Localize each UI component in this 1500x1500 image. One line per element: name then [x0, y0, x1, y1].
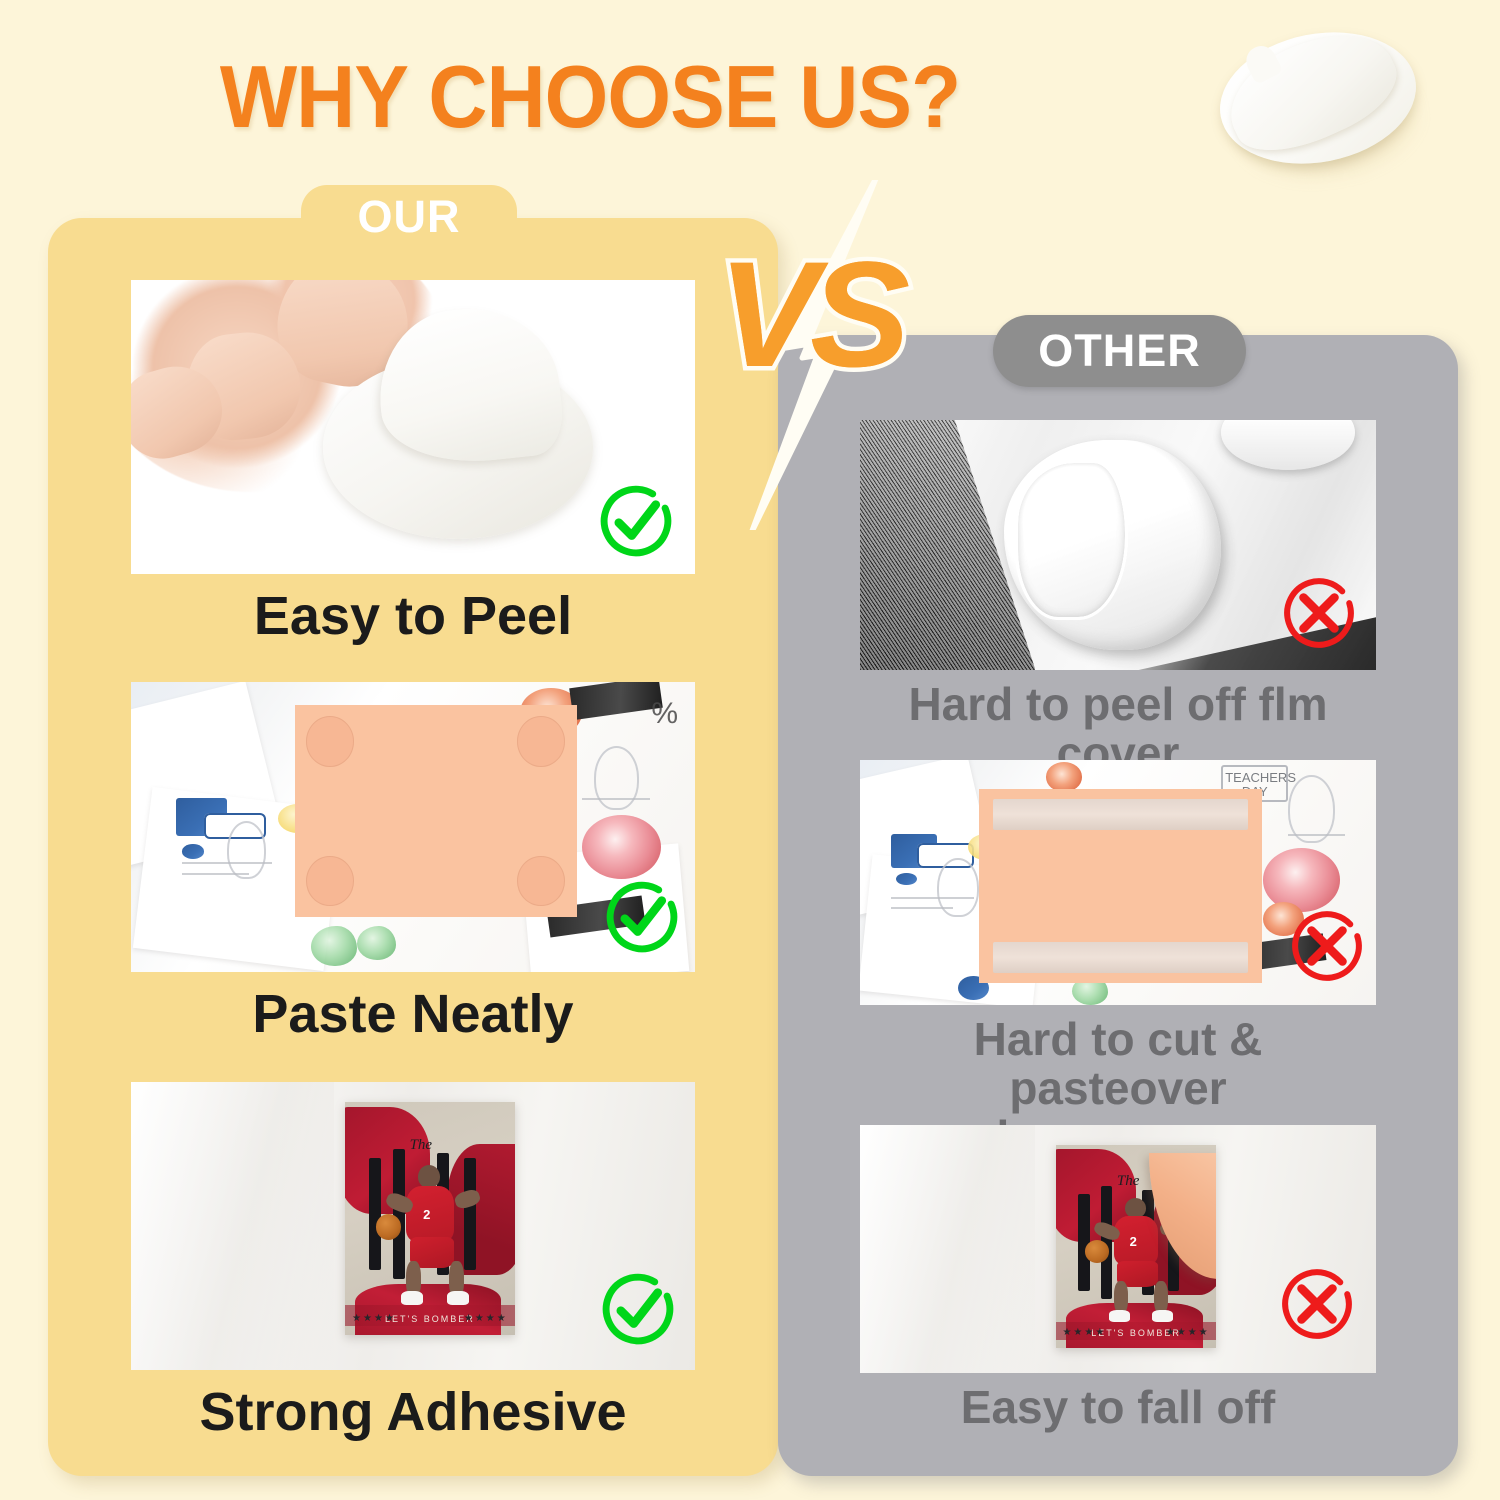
sketch-line — [182, 873, 250, 875]
sketch-line — [1288, 834, 1345, 836]
film-curled-lip — [1015, 460, 1129, 620]
other-card-easy-to-fall-off: The 2 LET'S BOMBER ★★★★ ★★★★ — [860, 1125, 1376, 1432]
player-leg — [1114, 1281, 1128, 1314]
percent-symbol: % — [651, 697, 678, 731]
blue-dot — [182, 844, 205, 859]
poster-stars: ★★★★ — [1062, 1327, 1106, 1338]
peach-sticker-overlay — [295, 705, 577, 917]
other-card-caption: Easy to fall off — [860, 1383, 1376, 1432]
other-tab-label: OTHER — [1038, 325, 1201, 377]
player-number: 2 — [1130, 1234, 1137, 1249]
red-x-circle-icon — [1276, 570, 1362, 656]
sketch-line — [582, 798, 650, 800]
poster-stars: ★★★★ — [1166, 1327, 1210, 1338]
basketball — [1085, 1240, 1109, 1262]
other-card-hard-to-cut: TEACHERS DAY Hard to cut & pasteover lar… — [860, 760, 1376, 1161]
versus-badge: VS VS — [690, 180, 930, 530]
orange-flower — [1046, 762, 1082, 791]
basketball-poster: The 2 LET'S BOMBER ★★★★ ★★★★ — [345, 1102, 514, 1335]
sketch-line — [891, 897, 974, 899]
basketball-poster: The 2 LET'S BOMBER ★★★★ ★★★★ — [1056, 1145, 1216, 1348]
blue-dot — [896, 873, 917, 885]
green-leaf — [357, 926, 396, 961]
player-number: 2 — [423, 1207, 430, 1222]
poster-the-text: The — [410, 1137, 433, 1154]
player-head — [1125, 1198, 1146, 1218]
dark-tape — [569, 682, 663, 720]
our-card-caption: Paste Neatly — [131, 986, 695, 1043]
peach-sticker-overlay — [979, 789, 1263, 983]
poster-bar — [393, 1149, 405, 1280]
grayscale-wrinkled-film-disc-photo — [860, 420, 1376, 670]
our-card-strong-adhesive: The 2 LET'S BOMBER ★★★★ ★★★★ — [131, 1082, 695, 1441]
page-title: WHY CHOOSE US? — [41, 46, 1138, 148]
red-x-circle-icon — [1274, 1261, 1360, 1347]
player-head — [418, 1165, 440, 1188]
other-card-caption-line1: Hard to cut & pasteover — [860, 1015, 1376, 1113]
red-x-circle-icon — [1284, 903, 1370, 989]
tape-strip — [993, 799, 1248, 830]
green-leaf — [311, 926, 356, 967]
versus-label: VS — [690, 228, 930, 401]
other-panel-tab: OTHER — [993, 315, 1246, 387]
basketball-poster-flat-on-wall-photo: The 2 LET'S BOMBER ★★★★ ★★★★ — [131, 1082, 695, 1370]
hand-peeling-adhesive-disc-photo — [131, 280, 695, 574]
sketch-figure — [227, 821, 266, 879]
green-check-circle-icon — [595, 1266, 681, 1352]
infographic-root: WHY CHOOSE US? OUR Easy to — [0, 0, 1500, 1500]
basketball-poster-peeling-off-wall-photo: The 2 LET'S BOMBER ★★★★ ★★★★ — [860, 1125, 1376, 1373]
poster-bar — [369, 1158, 381, 1270]
player-leg — [1154, 1281, 1168, 1314]
poster-stars: ★★★★ — [352, 1313, 396, 1324]
our-card-easy-to-peel: Easy to Peel — [131, 280, 695, 645]
sticker-corner-dot — [306, 856, 354, 907]
rose-flower — [582, 815, 661, 879]
sketch-line — [891, 907, 953, 909]
our-card-paste-neatly: % Paste Neatly — [131, 682, 695, 1043]
sketch-figure — [594, 746, 639, 810]
wall-light-shade — [131, 1082, 334, 1370]
green-check-circle-icon — [599, 874, 685, 960]
sticker-corner-dot — [306, 716, 354, 767]
player-shoe — [1152, 1310, 1173, 1322]
player-shoe — [401, 1291, 423, 1305]
sticker-corner-dot — [517, 856, 565, 907]
green-check-circle-icon — [593, 478, 679, 564]
sticker-corner-dot — [517, 716, 565, 767]
our-card-caption: Easy to Peel — [131, 588, 695, 645]
player-shoe — [1109, 1310, 1130, 1322]
poster-bar — [464, 1158, 476, 1270]
sketch-line — [182, 862, 272, 864]
basketball — [376, 1214, 401, 1240]
tape-strip — [993, 942, 1248, 973]
wall-light-shade — [860, 1125, 1035, 1373]
player-shoe — [447, 1291, 469, 1305]
poster-the-text: The — [1117, 1173, 1140, 1190]
adhesive-disc-icon — [1205, 18, 1435, 183]
our-panel-tab: OUR — [301, 185, 517, 251]
taped-sticker-on-craft-paper-photo: TEACHERS DAY — [860, 760, 1376, 1005]
other-card-hard-to-peel: Hard to peel off flm cover — [860, 420, 1376, 778]
our-card-caption: Strong Adhesive — [131, 1384, 695, 1441]
our-tab-label: OUR — [358, 191, 461, 243]
poster-stars: ★★★★ — [464, 1313, 508, 1324]
poster-red-splash — [447, 1144, 515, 1275]
sticker-with-corner-dots-on-craft-paper-photo: % — [131, 682, 695, 972]
